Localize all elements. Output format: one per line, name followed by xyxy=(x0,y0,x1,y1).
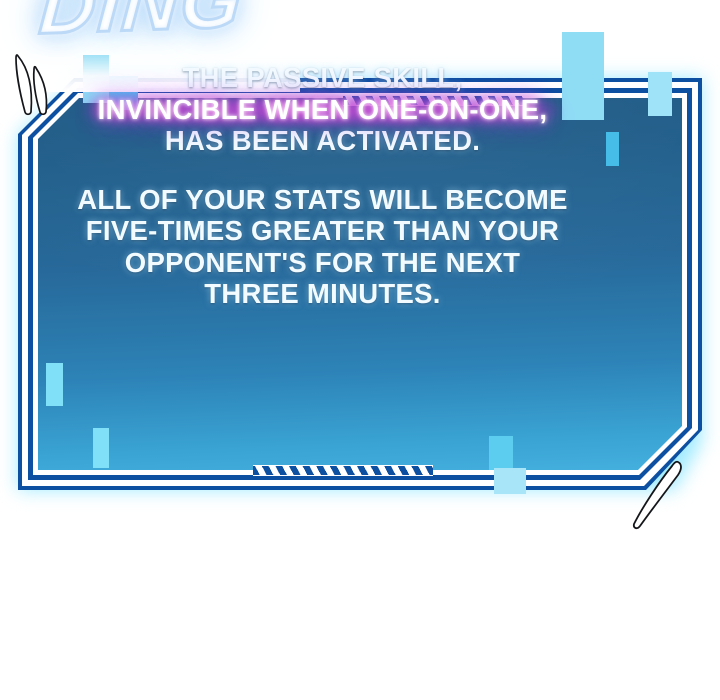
message-paragraph-gap xyxy=(70,157,575,184)
message-line-1: THE PASSIVE SKILL, xyxy=(70,62,575,94)
motion-stroke-bottom-right-icon xyxy=(628,456,690,534)
sound-effect-ding: DING xyxy=(36,0,246,53)
chip-top-right-small xyxy=(648,72,672,116)
hatch-bottom-border xyxy=(253,465,433,476)
message-line-5: FIVE-TIMES GREATER THAN YOUR xyxy=(70,215,575,247)
message-line-7: THREE MINUTES. xyxy=(70,278,575,310)
chip-left-low xyxy=(93,428,109,468)
highlighted-skill-name: INVINCIBLE WHEN ONE-ON-ONE, xyxy=(92,94,554,126)
message-line-6: OPPONENT'S FOR THE NEXT xyxy=(70,247,575,279)
scene-stage: DING THE PASSIVE SKILL, INVINCIBLE WHEN … xyxy=(0,0,720,700)
chip-bottom-center xyxy=(489,436,513,470)
message-line-4: ALL OF YOUR STATS WILL BECOME xyxy=(70,184,575,216)
sound-effect-ding-label: DING xyxy=(37,0,247,51)
notification-message: THE PASSIVE SKILL, INVINCIBLE WHEN ONE-O… xyxy=(70,62,575,310)
message-line-2: INVINCIBLE WHEN ONE-ON-ONE, xyxy=(70,94,575,126)
message-line-3: HAS BEEN ACTIVATED. xyxy=(70,125,575,157)
chip-right-thin xyxy=(606,132,619,166)
motion-stroke-top-left-icon xyxy=(8,52,66,118)
chip-bottom-outer xyxy=(494,468,526,494)
chip-left-mid xyxy=(46,363,63,406)
